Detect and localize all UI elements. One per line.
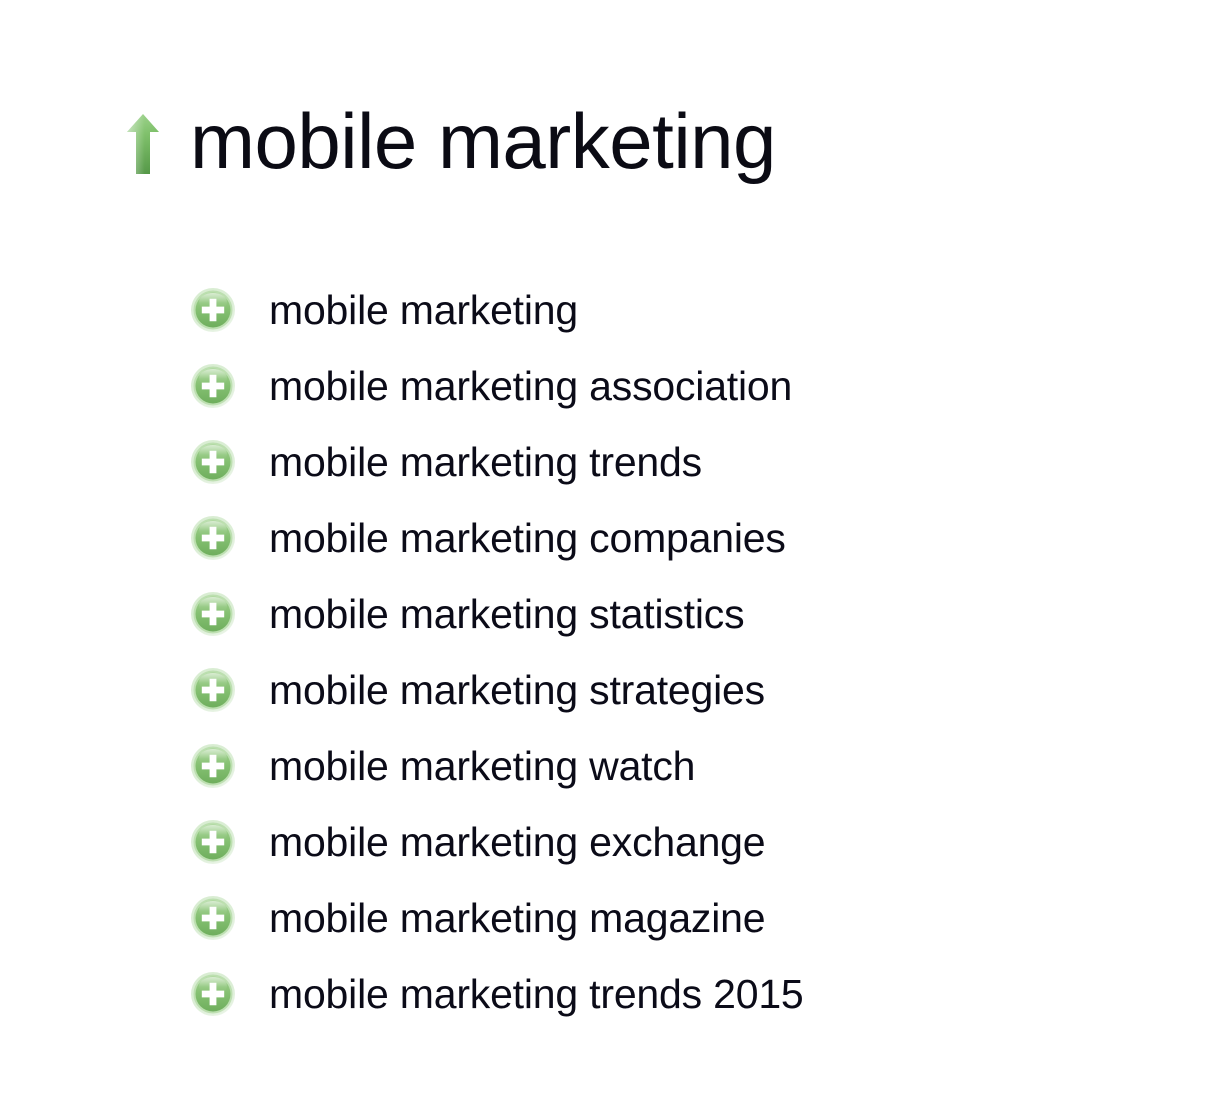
list-item[interactable]: mobile marketing trends (190, 424, 804, 500)
list-item[interactable]: mobile marketing trends 2015 (190, 956, 804, 1032)
list-item-label: mobile marketing statistics (269, 594, 744, 635)
plus-circle-icon[interactable] (190, 439, 236, 485)
list-item[interactable]: mobile marketing magazine (190, 880, 804, 956)
list-item[interactable]: mobile marketing watch (190, 728, 804, 804)
plus-circle-icon[interactable] (190, 819, 236, 865)
plus-circle-icon[interactable] (190, 895, 236, 941)
list-item-label: mobile marketing watch (269, 746, 695, 787)
plus-circle-icon[interactable] (190, 667, 236, 713)
list-item-label: mobile marketing trends (269, 442, 702, 483)
page-title: mobile marketing (126, 86, 776, 196)
list-item[interactable]: mobile marketing statistics (190, 576, 804, 652)
page-root: mobile marketing (0, 0, 1216, 1118)
up-arrow-icon (126, 107, 160, 175)
list-item-label: mobile marketing exchange (269, 822, 765, 863)
list-item-label: mobile marketing magazine (269, 898, 765, 939)
list-item-label: mobile marketing companies (269, 518, 786, 559)
list-item-label: mobile marketing (269, 290, 578, 331)
plus-circle-icon[interactable] (190, 743, 236, 789)
list-item-label: mobile marketing trends 2015 (269, 974, 804, 1015)
list-item[interactable]: mobile marketing (190, 272, 804, 348)
list-item-label: mobile marketing association (269, 366, 792, 407)
list-item[interactable]: mobile marketing association (190, 348, 804, 424)
list-item[interactable]: mobile marketing companies (190, 500, 804, 576)
plus-circle-icon[interactable] (190, 287, 236, 333)
plus-circle-icon[interactable] (190, 363, 236, 409)
suggestion-list: mobile marketing mobile marketing associ… (190, 272, 804, 1032)
page-title-text: mobile marketing (190, 102, 776, 180)
list-item[interactable]: mobile marketing strategies (190, 652, 804, 728)
plus-circle-icon[interactable] (190, 971, 236, 1017)
list-item-label: mobile marketing strategies (269, 670, 765, 711)
list-item[interactable]: mobile marketing exchange (190, 804, 804, 880)
plus-circle-icon[interactable] (190, 591, 236, 637)
plus-circle-icon[interactable] (190, 515, 236, 561)
